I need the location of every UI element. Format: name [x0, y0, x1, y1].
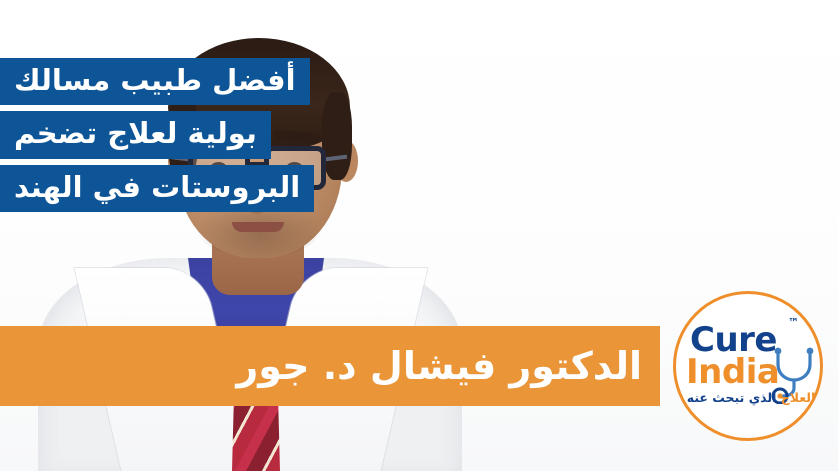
promo-banner: Male doctor wearing dark-rimmed glasses,… [0, 0, 838, 471]
doctor-portrait-description: Male doctor wearing dark-rimmed glasses,… [479, 0, 480, 1]
logo-tagline: العلاج الذي تبحث عنه [676, 390, 823, 405]
doctor-name-text: الدكتور فيشال د. جور [236, 347, 642, 385]
logo-inner: Cure ™ India العلاج الذي تبحث عنه [676, 294, 820, 438]
logo-tagline-rest: الذي تبحث عنه [687, 390, 781, 405]
headline-line-3: البروستات في الهند [0, 165, 314, 212]
logo-tagline-highlight: العلاج [781, 390, 816, 405]
headline-line-2: بولية لعلاج تضخم [0, 111, 271, 158]
headline-line-1: أفضل طبيب مسالك [0, 58, 310, 105]
doctor-name-banner: الدكتور فيشال د. جور [0, 326, 660, 406]
headline-block: أفضل طبيب مسالك بولية لعلاج تضخم البروست… [0, 58, 838, 212]
trademark-icon: ™ [788, 316, 799, 329]
logo-word-india: India [686, 352, 779, 392]
cure-india-logo[interactable]: Cure ™ India العلاج الذي تبحث عنه [673, 291, 823, 441]
mouth [232, 222, 284, 232]
